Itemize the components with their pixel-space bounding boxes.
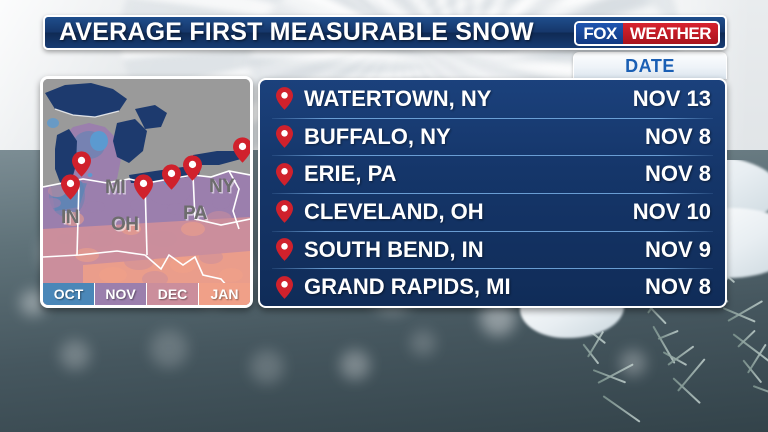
regional-snow-map: MIINOHPANY OCTNOVDECJAN — [40, 76, 253, 308]
fox-weather-logo: FOX WEATHER — [574, 21, 720, 46]
legend-cell-dec: DEC — [147, 283, 199, 305]
table-row[interactable]: CLEVELAND, OHNOV 10 — [260, 193, 725, 231]
title-bar: AVERAGE FIRST MEASURABLE SNOW FOX WEATHE… — [43, 15, 727, 50]
table-row[interactable]: BUFFALO, NYNOV 8 — [260, 118, 725, 156]
map-pin-icon — [276, 238, 293, 261]
first-snow-date: NOV 9 — [645, 237, 711, 263]
map-pin-cleveland[interactable] — [134, 174, 153, 205]
map-pin-icon — [276, 163, 293, 186]
logo-weather-text: WEATHER — [623, 23, 718, 44]
first-snow-date: NOV 8 — [645, 274, 711, 300]
table-row[interactable]: WATERTOWN, NYNOV 13 — [260, 80, 725, 118]
first-snow-date: NOV 8 — [645, 161, 711, 187]
map-pin-icon — [276, 87, 293, 110]
legend-cell-nov: NOV — [95, 283, 147, 305]
city-name: WATERTOWN, NY — [304, 86, 491, 112]
map-pin-erie[interactable] — [162, 164, 181, 195]
first-snow-date: NOV 13 — [633, 86, 711, 112]
state-label-oh: OH — [111, 214, 139, 236]
state-label-ny: NY — [209, 176, 234, 198]
page-title: AVERAGE FIRST MEASURABLE SNOW — [59, 18, 534, 47]
first-snow-date: NOV 10 — [633, 199, 711, 225]
column-header-date-label: DATE — [625, 56, 675, 77]
legend-cell-oct: OCT — [43, 283, 95, 305]
state-label-pa: PA — [183, 203, 207, 225]
logo-fox-text: FOX — [576, 23, 622, 44]
state-label-in: IN — [61, 207, 79, 229]
first-snow-date: NOV 8 — [645, 124, 711, 150]
city-date-table: WATERTOWN, NYNOV 13BUFFALO, NYNOV 8ERIE,… — [258, 78, 727, 308]
state-label-mi: MI — [105, 177, 125, 199]
map-pin-watertown[interactable] — [233, 137, 252, 168]
city-name: BUFFALO, NY — [304, 124, 451, 150]
table-row[interactable]: GRAND RAPIDS, MINOV 8 — [260, 268, 725, 306]
table-row[interactable]: ERIE, PANOV 8 — [260, 155, 725, 193]
city-name: GRAND RAPIDS, MI — [304, 274, 511, 300]
legend-cell-jan: JAN — [199, 283, 250, 305]
map-pin-buffalo[interactable] — [183, 155, 202, 186]
map-pin-icon — [276, 200, 293, 223]
map-pin-south-bend[interactable] — [61, 174, 80, 205]
column-header-date: DATE — [573, 52, 727, 79]
city-name: CLEVELAND, OH — [304, 199, 484, 225]
map-legend: OCTNOVDECJAN — [43, 283, 250, 305]
map-pin-icon — [276, 276, 293, 299]
map-pin-icon — [276, 125, 293, 148]
city-name: ERIE, PA — [304, 161, 397, 187]
city-name: SOUTH BEND, IN — [304, 237, 484, 263]
table-row[interactable]: SOUTH BEND, INNOV 9 — [260, 231, 725, 269]
